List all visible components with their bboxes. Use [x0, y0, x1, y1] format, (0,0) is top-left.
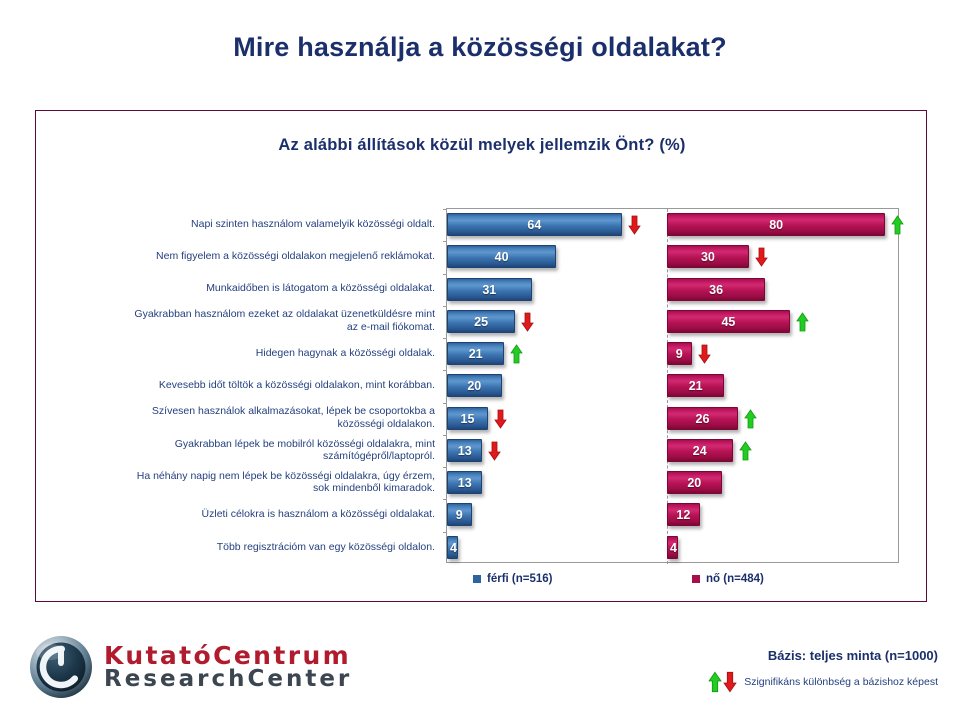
bar-female[interactable]: 12	[667, 503, 700, 526]
bar-row: 6480	[447, 209, 898, 241]
category-label: Napi szinten használom valamelyik közöss…	[125, 208, 435, 240]
category-label-list: Napi szinten használom valamelyik közöss…	[131, 208, 441, 563]
significance-down-icon	[698, 344, 711, 364]
bar-row: 219	[447, 338, 898, 370]
bar-male[interactable]: 20	[447, 374, 502, 397]
category-label: Gyakrabban használom ezeket az oldalakat…	[125, 305, 435, 337]
bar-female[interactable]: 9	[667, 342, 692, 365]
bar-row: 2021	[447, 370, 898, 402]
arrow-down-icon	[723, 671, 737, 693]
arrow-up-icon	[708, 671, 722, 693]
significance-down-icon	[521, 312, 534, 332]
bar-row: 912	[447, 499, 898, 531]
significance-up-icon	[796, 312, 809, 332]
axis-tick	[443, 499, 447, 500]
page-title: Mire használja a közösségi oldalakat?	[0, 32, 960, 63]
bar-male[interactable]: 13	[447, 471, 482, 494]
significance-arrows	[708, 671, 737, 693]
plot-area: 6480403031362545219202115261324132091244	[446, 208, 899, 563]
significance-down-icon	[494, 409, 507, 429]
category-label: Szívesen használok alkalmazásokat, lépek…	[125, 402, 435, 434]
axis-tick	[443, 467, 447, 468]
logo-wordmark: KutatóCentrum ResearchCenter	[104, 643, 352, 691]
bar-male[interactable]: 4	[447, 536, 458, 559]
chart-frame: Az alábbi állítások közül melyek jellemz…	[35, 110, 927, 602]
bar-male[interactable]: 21	[447, 342, 504, 365]
legend-item-female[interactable]: nő (n=484)	[692, 573, 764, 585]
bar-female[interactable]: 45	[667, 310, 790, 333]
bar-female[interactable]: 24	[667, 439, 733, 462]
legend-swatch-female-icon	[692, 575, 700, 583]
bar-female[interactable]: 26	[667, 407, 738, 430]
chart-title: Az alábbi állítások közül melyek jellemz…	[36, 136, 928, 155]
bar-female[interactable]: 21	[667, 374, 724, 397]
bar-female[interactable]: 30	[667, 245, 749, 268]
axis-tick	[443, 338, 447, 339]
significance-up-icon	[739, 441, 752, 461]
bar-female[interactable]: 80	[667, 213, 885, 236]
legend-item-male[interactable]: férfi (n=516)	[473, 573, 553, 585]
footer-notes: Bázis: teljes minta (n=1000) Szignifikán…	[598, 648, 938, 693]
category-label: Kevesebb időt töltök a közösségi oldalak…	[125, 369, 435, 401]
logo-line-bottom: ResearchCenter	[104, 666, 352, 692]
category-label: Nem figyelem a közösségi oldalakon megje…	[125, 240, 435, 272]
significance-legend: Szignifikáns különbség a bázishoz képest	[598, 671, 938, 693]
chart-legend: férfi (n=516) nő (n=484)	[446, 569, 899, 593]
category-label: Ha néhány napig nem lépek be közösségi o…	[125, 466, 435, 498]
category-label: Hidegen hagynak a közösségi oldalak.	[125, 337, 435, 369]
bar-male[interactable]: 25	[447, 310, 515, 333]
axis-tick	[443, 241, 447, 242]
legend-swatch-male-icon	[473, 575, 481, 583]
bar-male[interactable]: 13	[447, 439, 482, 462]
bar-male[interactable]: 15	[447, 407, 488, 430]
significance-up-icon	[744, 409, 757, 429]
bar-rows: 6480403031362545219202115261324132091244	[447, 209, 898, 562]
category-label: Több regisztrációm van egy közösségi old…	[125, 531, 435, 563]
power-button-logo-icon	[28, 634, 94, 700]
axis-tick	[443, 403, 447, 404]
bar-male[interactable]: 9	[447, 503, 472, 526]
axis-tick	[443, 532, 447, 533]
category-label: Gyakrabban lépek be mobilról közösségi o…	[125, 434, 435, 466]
bar-row: 44	[447, 532, 898, 564]
bar-female[interactable]: 36	[667, 278, 765, 301]
slide-root: Mire használja a közösségi oldalakat? Az…	[0, 0, 960, 720]
bar-male[interactable]: 64	[447, 213, 622, 236]
significance-note-text: Szignifikáns különbség a bázishoz képest	[744, 676, 938, 688]
bar-male[interactable]: 40	[447, 245, 556, 268]
significance-down-icon	[755, 247, 768, 267]
bar-row: 1324	[447, 435, 898, 467]
axis-tick	[443, 274, 447, 275]
significance-down-icon	[488, 441, 501, 461]
bar-row: 3136	[447, 274, 898, 306]
significance-up-icon	[891, 215, 904, 235]
bar-female[interactable]: 20	[667, 471, 722, 494]
legend-label-female: nő (n=484)	[706, 573, 764, 585]
significance-up-icon	[510, 344, 523, 364]
company-logo: KutatóCentrum ResearchCenter	[28, 634, 352, 700]
bar-female[interactable]: 4	[667, 536, 678, 559]
axis-tick	[443, 435, 447, 436]
axis-tick	[443, 370, 447, 371]
bar-row: 2545	[447, 306, 898, 338]
category-label: Munkaidőben is látogatom a közösségi old…	[125, 273, 435, 305]
bar-row: 1526	[447, 403, 898, 435]
bar-male[interactable]: 31	[447, 278, 532, 301]
axis-tick	[443, 209, 447, 210]
significance-down-icon	[628, 215, 641, 235]
bar-row: 1320	[447, 467, 898, 499]
legend-label-male: férfi (n=516)	[487, 573, 553, 585]
axis-tick	[443, 306, 447, 307]
category-label: Üzleti célokra is használom a közösségi …	[125, 498, 435, 530]
basis-text: Bázis: teljes minta (n=1000)	[598, 648, 938, 663]
bar-row: 4030	[447, 241, 898, 273]
